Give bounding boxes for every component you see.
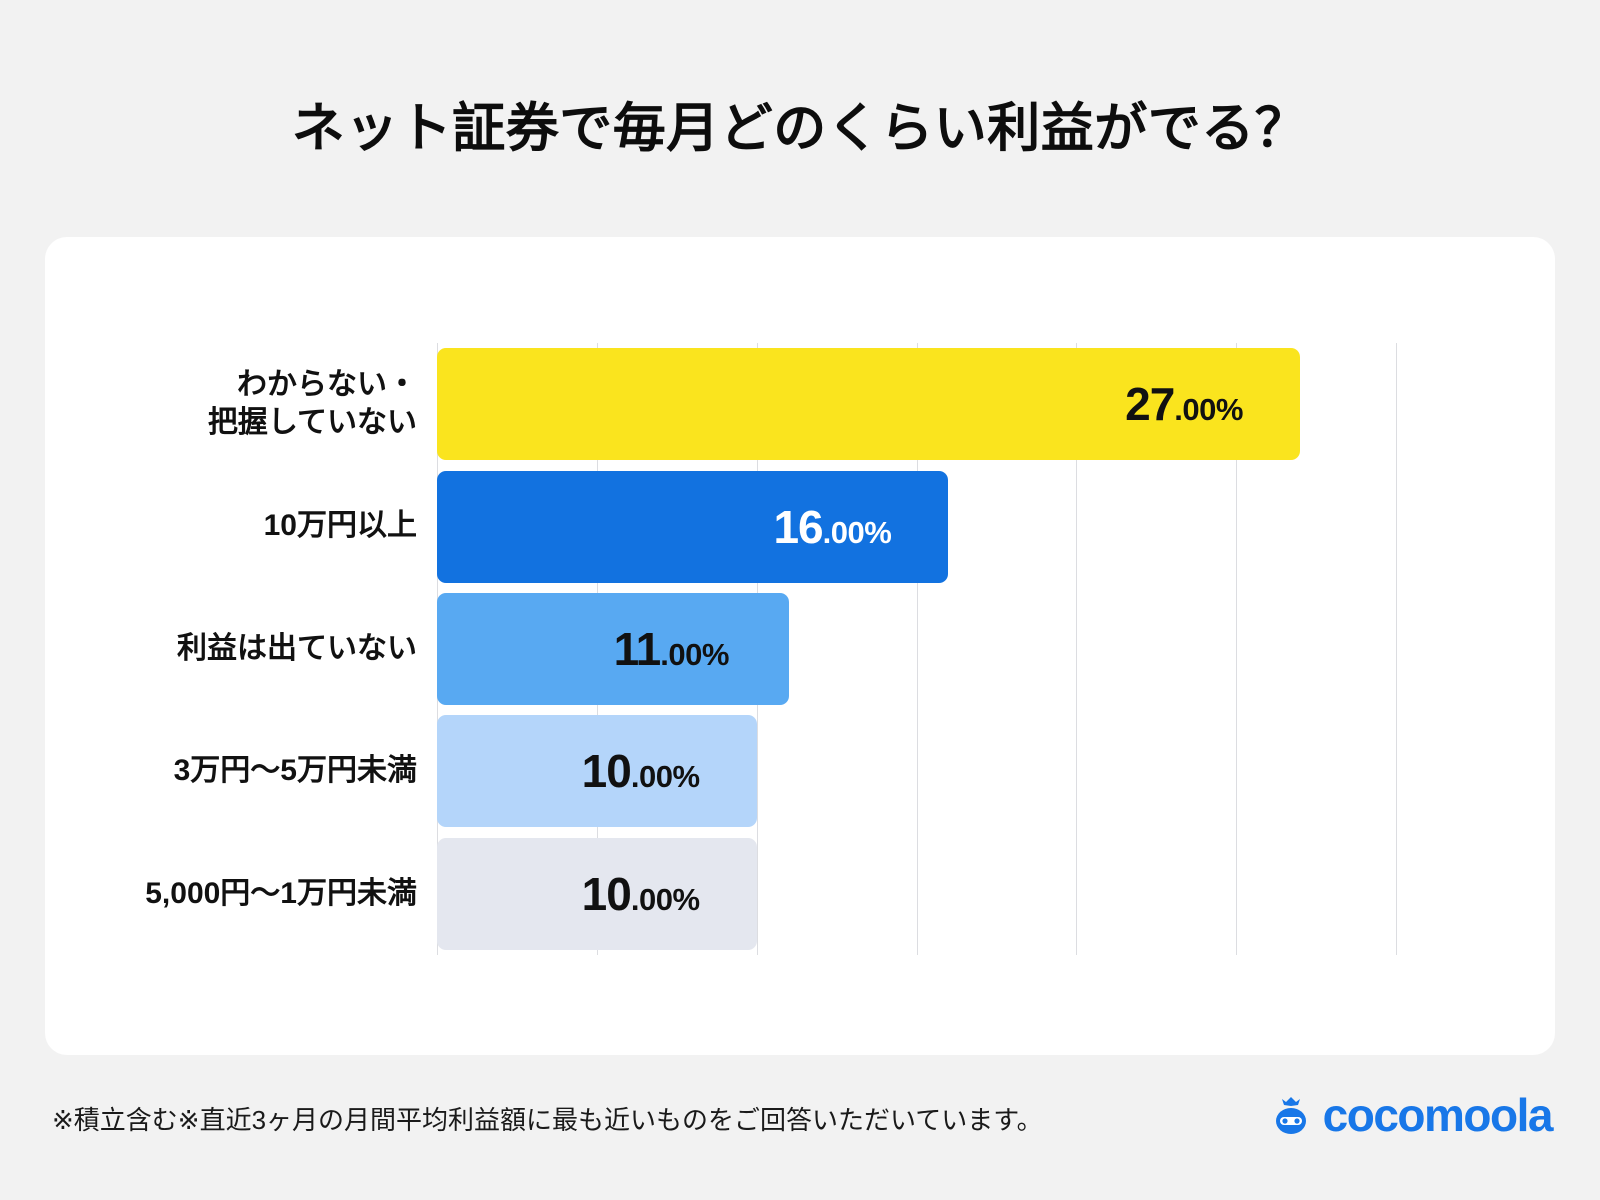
bar-value-label: 10.00% — [582, 748, 700, 794]
cocomoola-mascot-icon — [1269, 1093, 1313, 1137]
category-label: わからない・ 把握していない — [45, 348, 417, 460]
bar-value-label: 11.00% — [614, 626, 729, 672]
category-label: 3万円〜5万円未満 — [45, 715, 417, 827]
bar-row: 10.00% — [437, 715, 1420, 827]
category-label: 利益は出ていない — [45, 593, 417, 705]
bar-value-label: 10.00% — [582, 871, 700, 917]
bar-row: 27.00% — [437, 348, 1420, 460]
bar-value-decimal: .00% — [660, 637, 729, 672]
footnote: ※積立含む※直近3ヶ月の月間平均利益額に最も近いものをご回答いただいています。 — [52, 1100, 1043, 1137]
bar-value-integer: 16 — [773, 501, 822, 553]
bar-value-integer: 10 — [582, 745, 631, 797]
bar-value-integer: 11 — [614, 623, 661, 675]
chart-card: わからない・ 把握していない10万円以上利益は出ていない3万円〜5万円未満5,0… — [45, 237, 1555, 1055]
category-label: 5,000円〜1万円未満 — [45, 838, 417, 950]
bar-row: 11.00% — [437, 593, 1420, 705]
bar-value-integer: 27 — [1125, 378, 1174, 430]
page-title: ネット証券で毎月どのくらい利益がでる？ — [0, 86, 1600, 162]
bar-value-label: 27.00% — [1125, 381, 1243, 427]
bar-value-decimal: .00% — [631, 882, 700, 917]
plot-area: 27.00%16.00%11.00%10.00%10.00% — [437, 343, 1420, 955]
category-axis: わからない・ 把握していない10万円以上利益は出ていない3万円〜5万円未満5,0… — [45, 343, 427, 955]
bar-value-decimal: .00% — [1174, 392, 1243, 427]
bar-value-label: 16.00% — [773, 504, 891, 550]
bar-value-integer: 10 — [582, 868, 631, 920]
bar-rows: 27.00%16.00%11.00%10.00%10.00% — [437, 343, 1420, 955]
bar-value-decimal: .00% — [631, 759, 700, 794]
bar-row: 10.00% — [437, 838, 1420, 950]
bar-row: 16.00% — [437, 471, 1420, 583]
brand-name: cocomoola — [1323, 1092, 1552, 1138]
brand-logo: cocomoola — [1269, 1092, 1552, 1138]
bar-value-decimal: .00% — [823, 515, 892, 550]
category-label: 10万円以上 — [45, 471, 417, 583]
